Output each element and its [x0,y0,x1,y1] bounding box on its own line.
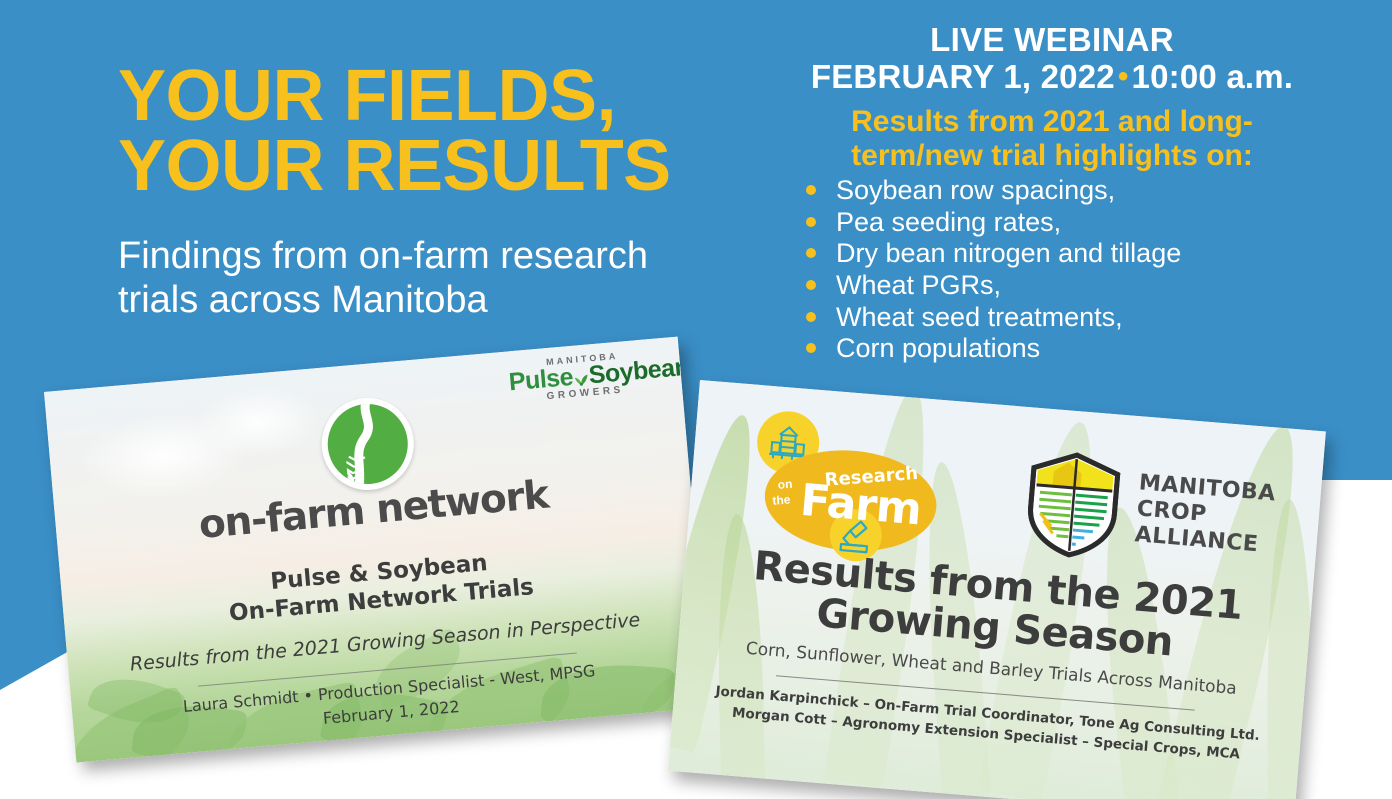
bullet-dot-icon [806,248,816,258]
promo-graphic: YOUR FIELDS, YOUR RESULTS Findings from … [0,0,1392,799]
topic-label: Dry bean nitrogen and tillage [836,238,1181,268]
list-item: Dry bean nitrogen and tillage [800,238,1332,270]
bullet-dot-icon [806,280,816,290]
subheadline-line-1: Findings from on-farm research [118,234,758,278]
mca-shield-icon [1017,445,1130,563]
rof-farm-text: Farm [798,475,922,536]
list-item: Wheat PGRs, [800,270,1332,302]
list-item: Wheat seed treatments, [800,302,1332,334]
rof-on-text: on [777,477,793,492]
headline-block: YOUR FIELDS, YOUR RESULTS Findings from … [118,62,758,323]
list-item: Soybean row spacings, [800,175,1332,207]
subheadline-line-2: trials across Manitoba [118,278,758,322]
topic-label: Wheat seed treatments, [836,302,1123,332]
rof-the-text: the [772,492,791,507]
list-item: Pea seeding rates, [800,207,1332,239]
winding-road-icon [341,401,395,488]
topic-label: Corn populations [836,333,1040,363]
headline-line-2: YOUR RESULTS [118,132,758,202]
research-on-the-farm-logo: on the Research Farm [742,409,943,564]
topic-label: Pea seeding rates, [836,207,1061,237]
mca-wordmark: MANITOBA CROP ALLIANCE [1134,470,1277,559]
topics-list: Soybean row spacings, Pea seeding rates,… [772,175,1332,364]
subheadline: Findings from on-farm research trials ac… [118,234,758,323]
bullet-dot-icon [806,312,816,322]
live-webinar-label: LIVE WEBINAR [772,22,1332,59]
results-heading: Results from 2021 and long- term/new tri… [772,105,1332,173]
bullet-separator-icon: • [1115,60,1132,93]
manitoba-crop-alliance-logo: MANITOBA CROP ALLIANCE [1017,445,1280,576]
webinar-datetime: FEBRUARY 1, 2022•10:00 a.m. [772,59,1332,96]
webinar-date: FEBRUARY 1, 2022 [811,58,1115,95]
list-item: Corn populations [800,333,1332,365]
topic-label: Soybean row spacings, [836,175,1115,205]
slide-thumbnail-mpsg[interactable]: MANITOBA PulseSoybean GROWERS [44,337,710,763]
webinar-info-block: LIVE WEBINAR FEBRUARY 1, 2022•10:00 a.m.… [772,22,1332,365]
results-heading-line-1: Results from 2021 and long- [772,105,1332,139]
bullet-dot-icon [806,217,816,227]
results-heading-line-2: term/new trial highlights on: [772,139,1332,173]
slide-thumbnail-mca[interactable]: on the Research Farm [668,380,1326,799]
webinar-time: 10:00 a.m. [1132,58,1294,95]
sprout-icon [572,365,589,380]
topic-label: Wheat PGRs, [836,270,1001,300]
bullet-dot-icon [806,185,816,195]
headline-line-1: YOUR FIELDS, [118,62,758,132]
bullet-dot-icon [806,343,816,353]
